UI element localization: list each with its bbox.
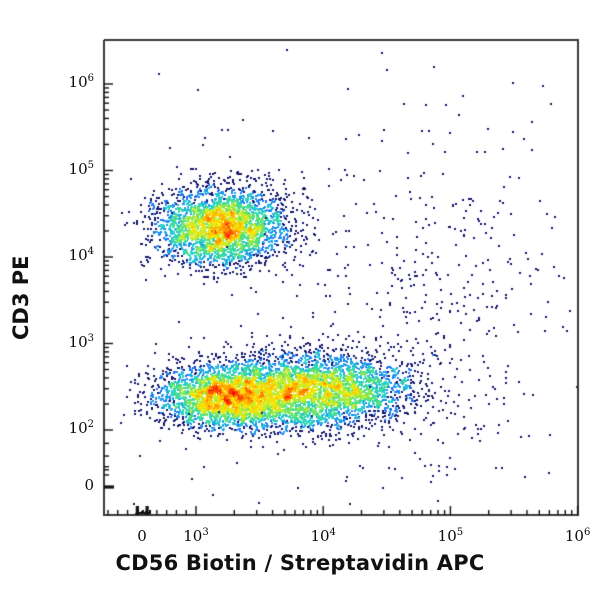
y-tick-label-4: 102: [54, 419, 94, 437]
x-tick-label-2: 104: [298, 527, 348, 545]
y-tick-label-3: 103: [54, 333, 94, 351]
x-tick-label-0: 0: [117, 527, 167, 545]
x-tick-label-4: 106: [553, 527, 600, 545]
x-tick-label-3: 105: [425, 527, 475, 545]
x-axis-title: CD56 Biotin / Streptavidin APC: [0, 551, 600, 575]
y-tick-label-0: 106: [54, 73, 94, 91]
y-axis-title: CD3 PE: [9, 255, 33, 340]
x-tick-label-1: 103: [171, 527, 221, 545]
y-tick-label-1: 105: [54, 160, 94, 178]
y-tick-label-5: 0: [54, 476, 94, 494]
y-tick-label-2: 104: [54, 246, 94, 264]
flow-cytometry-plot: CD56 Biotin / Streptavidin APC CD3 PE 10…: [0, 0, 600, 595]
